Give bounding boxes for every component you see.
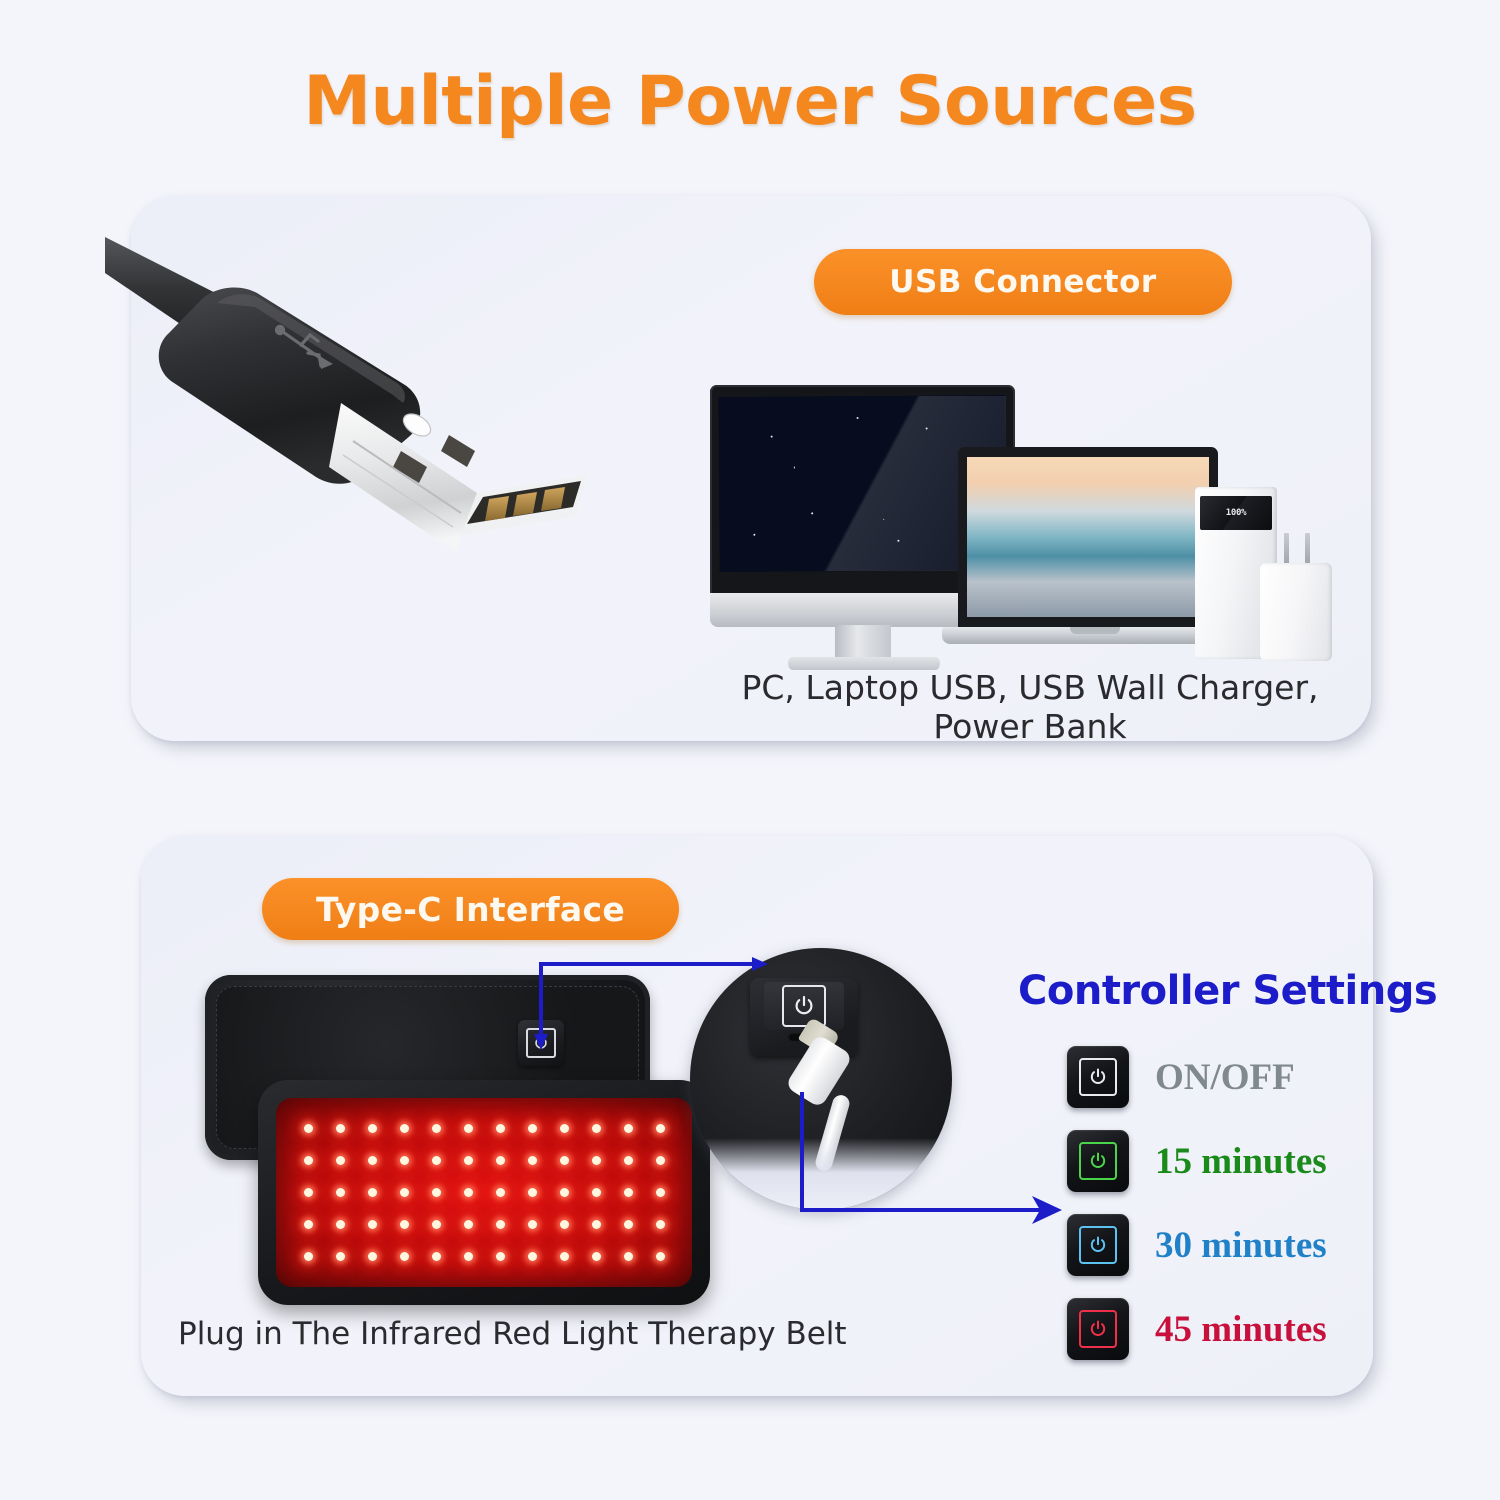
power-icon xyxy=(1079,1226,1117,1264)
setting-label-onoff: ON/OFF xyxy=(1155,1056,1295,1099)
setting-row-30min[interactable]: 30 minutes xyxy=(1067,1211,1377,1279)
power-icon xyxy=(1079,1310,1117,1348)
power-icon xyxy=(1079,1058,1117,1096)
laptop-icon xyxy=(958,447,1218,660)
controller-settings-title: Controller Settings xyxy=(1018,968,1437,1014)
setting-row-45min[interactable]: 45 minutes xyxy=(1067,1295,1377,1363)
controller-button-onoff[interactable] xyxy=(1067,1046,1129,1108)
usb-devices-caption: PC, Laptop USB, USB Wall Charger, Power … xyxy=(700,668,1360,746)
page-title: Multiple Power Sources xyxy=(0,62,1500,141)
controller-button-15min[interactable] xyxy=(1067,1130,1129,1192)
controller-button-30min[interactable] xyxy=(1067,1214,1129,1276)
setting-label-15min: 15 minutes xyxy=(1155,1140,1327,1183)
controller-settings-list: ON/OFF 15 minutes 30 minutes xyxy=(1067,1043,1377,1379)
setting-label-30min: 30 minutes xyxy=(1155,1224,1327,1267)
compatible-devices-illustration: 100% xyxy=(700,385,1330,650)
setting-label-45min: 45 minutes xyxy=(1155,1308,1327,1351)
usb-a-connector-icon xyxy=(105,235,645,575)
plug-belt-caption: Plug in The Infrared Red Light Therapy B… xyxy=(178,1316,847,1352)
wall-charger-icon xyxy=(1260,533,1332,661)
setting-row-15min[interactable]: 15 minutes xyxy=(1067,1127,1377,1195)
power-bank-display-text: 100% xyxy=(1226,508,1246,518)
power-icon xyxy=(1079,1142,1117,1180)
usb-connector-badge-label: USB Connector xyxy=(889,264,1156,300)
setting-row-onoff[interactable]: ON/OFF xyxy=(1067,1043,1377,1111)
usb-connector-badge: USB Connector xyxy=(814,249,1232,315)
controller-button-45min[interactable] xyxy=(1067,1298,1129,1360)
